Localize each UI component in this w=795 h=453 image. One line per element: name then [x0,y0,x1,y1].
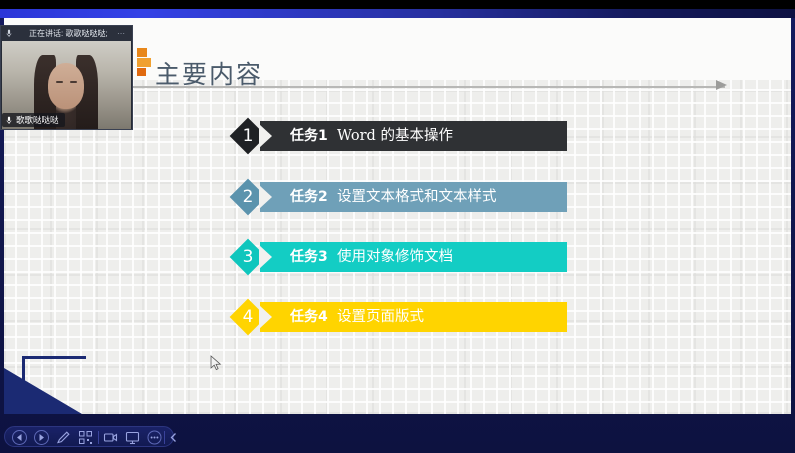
webcam-header: 正在讲话: 歌歌哒哒哒; ⋯ [1,26,132,41]
screen-share-icon[interactable] [124,429,141,446]
task-number: 1 [235,121,261,151]
presenter-toolbar[interactable] [4,426,174,447]
task-prefix: 任务1 [290,128,328,144]
task-label: 任务2 设置文本格式和文本样式 [290,182,496,212]
toolbar-divider-2 [164,431,165,444]
task-text: 使用对象修饰文档 [337,249,453,265]
top-accent-band [0,9,795,18]
webcam-eye-left [56,81,63,83]
task-label: 任务1 Word 的基本操作 [290,121,453,151]
collapse-left-icon[interactable] [166,429,183,446]
qrcode-icon[interactable] [77,429,94,446]
participant-name-badge: 歌歌哒哒哒 [2,113,65,127]
task-number: 3 [235,242,261,272]
previous-slide-icon[interactable] [11,429,28,446]
webcam-speaking-label: 正在讲话: 歌歌哒哒哒; [29,26,108,41]
slide-corner-decoration [4,354,124,414]
title-divider [125,86,725,88]
task-text: 设置页面版式 [337,309,424,325]
pen-annotate-icon[interactable] [55,429,72,446]
task-number: 2 [235,182,261,212]
camera-icon[interactable] [102,429,119,446]
webcam-eye-right [70,81,77,83]
mouse-pointer-icon [210,355,222,371]
screen: 主要内容 1 任务1 Word 的基本操作 2 任务2 设置文本格式和文本样式 [0,0,795,453]
task-text: Word 的基本操作 [337,128,453,144]
participant-name: 歌歌哒哒哒 [16,115,59,125]
task-label: 任务4 设置页面版式 [290,302,424,332]
powerpoint-logo-icon [137,48,155,76]
toolbar-divider [98,431,99,444]
task-text: 设置文本格式和文本样式 [337,189,497,205]
microphone-icon [6,29,12,38]
next-slide-icon[interactable] [33,429,50,446]
webcam-face [48,63,84,109]
task-label: 任务3 使用对象修饰文档 [290,242,453,272]
more-options-icon[interactable] [146,429,163,446]
task-prefix: 任务3 [290,249,328,265]
title-arrow-icon [716,80,727,90]
webcam-overlay[interactable]: 正在讲话: 歌歌哒哒哒; ⋯ 歌歌哒哒哒 [0,25,133,130]
microphone-icon [6,116,12,125]
task-number: 4 [235,302,261,332]
more-dots-icon[interactable]: ⋯ [117,26,126,41]
task-prefix: 任务2 [290,189,328,205]
task-prefix: 任务4 [290,309,328,325]
top-bezel [0,0,795,9]
